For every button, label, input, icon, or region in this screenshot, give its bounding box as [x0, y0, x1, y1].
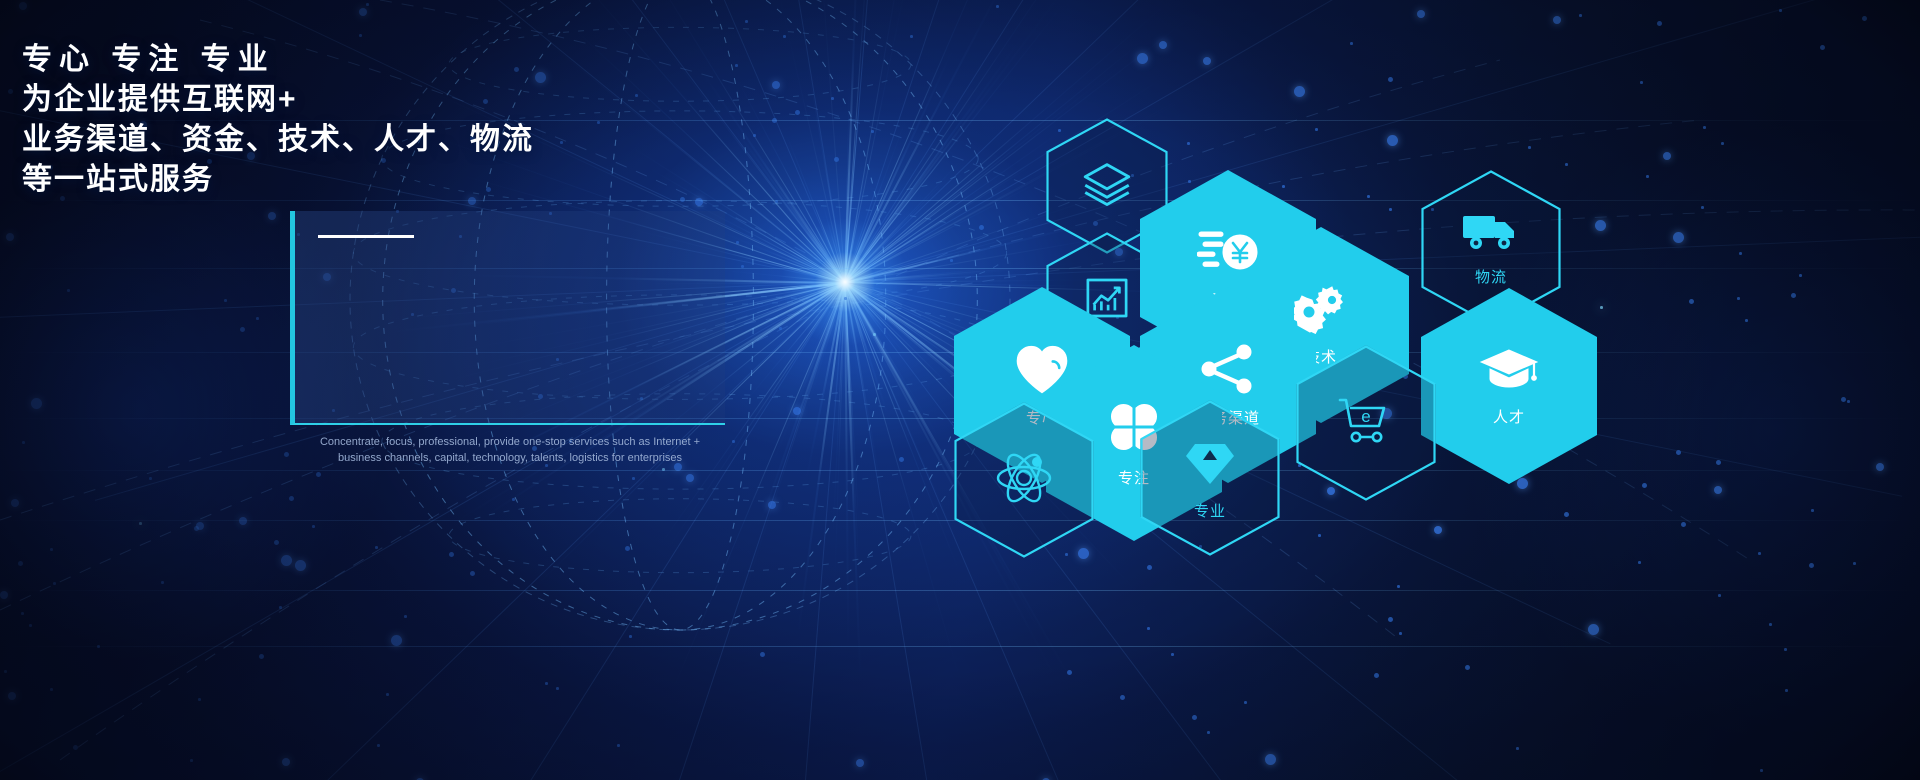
particle-dot — [4, 670, 7, 673]
particle-dot — [844, 297, 847, 300]
particle-dot — [1784, 648, 1787, 651]
particle-dot — [0, 591, 8, 599]
particle-dot — [1714, 486, 1722, 494]
diamond-icon — [1183, 436, 1237, 493]
atom-icon — [993, 449, 1055, 512]
particle-dot — [1147, 565, 1152, 570]
particle-dot — [1595, 220, 1606, 231]
banner-stage: 专心 专注 专业为企业提供互联网+业务渠道、资金、技术、人才、物流等一站式服务 … — [0, 0, 1920, 780]
hexagon-body: 人才 — [1421, 288, 1597, 484]
particle-dot — [783, 35, 786, 38]
particle-dot — [73, 745, 78, 750]
particle-dot — [1642, 483, 1647, 488]
particle-dot — [1876, 463, 1884, 471]
particle-dot — [239, 517, 247, 525]
particle-dot — [632, 477, 635, 480]
particle-dot — [831, 97, 834, 100]
particle-dot — [19, 2, 27, 10]
particle-dot — [316, 472, 321, 477]
particle-dot — [1791, 293, 1796, 298]
particle-dot — [1758, 552, 1761, 555]
hexagon-ecart[interactable]: e — [1296, 345, 1436, 501]
particle-dot — [1811, 509, 1814, 512]
particle-dot — [871, 130, 874, 133]
scan-line — [0, 590, 1920, 591]
particle-dot — [1676, 450, 1681, 455]
particle-dot — [556, 687, 559, 690]
scan-line — [0, 268, 1920, 269]
particle-dot — [194, 526, 199, 531]
particle-dot — [795, 110, 800, 115]
particle-dot — [1638, 561, 1641, 564]
particle-dot — [1703, 126, 1706, 129]
particle-dot — [1465, 665, 1470, 670]
particle-dot — [1137, 53, 1148, 64]
particle-dot — [161, 581, 164, 584]
particle-dot — [1553, 16, 1561, 24]
particle-dot — [1769, 623, 1772, 626]
particle-dot — [625, 546, 630, 551]
particle-dot — [1739, 252, 1742, 255]
particle-dot — [1388, 77, 1393, 82]
particle-dot — [899, 457, 904, 462]
particle-dot — [1564, 512, 1569, 517]
particle-dot — [1318, 534, 1321, 537]
particle-dot — [1760, 769, 1763, 772]
hexagon-body: 专业 — [1140, 400, 1280, 556]
particle-dot — [139, 522, 142, 525]
particle-dot — [359, 34, 362, 37]
particle-dot — [617, 744, 620, 747]
particle-dot — [512, 498, 515, 501]
particle-dot — [256, 317, 259, 320]
particle-dot — [662, 468, 665, 471]
particle-dot — [1399, 632, 1402, 635]
hexagon-rencai[interactable]: 人才 — [1421, 288, 1597, 484]
particle-dot — [1203, 57, 1211, 65]
particle-dot — [8, 692, 16, 700]
particle-dot — [282, 758, 290, 766]
particle-dot — [979, 225, 984, 230]
particle-dot — [279, 606, 282, 609]
particle-dot — [1315, 128, 1318, 131]
particle-dot — [1120, 695, 1125, 700]
headline-line-2: 为企业提供互联网+ — [22, 80, 782, 120]
svg-text:e: e — [1361, 407, 1370, 426]
hexagon-label: 专业 — [1194, 500, 1226, 521]
particle-dot — [1516, 747, 1519, 750]
particle-dot — [768, 501, 776, 509]
scan-line — [0, 646, 1920, 647]
particle-dot — [1192, 715, 1197, 720]
particle-dot — [259, 654, 264, 659]
particle-dot — [29, 624, 32, 627]
particle-dot — [1646, 175, 1649, 178]
particle-dot — [856, 759, 864, 767]
particle-dot — [1067, 670, 1072, 675]
particle-dot — [834, 157, 839, 162]
hexagon-label: 物流 — [1475, 266, 1507, 287]
headline-rule — [318, 235, 414, 238]
particle-dot — [686, 474, 694, 482]
hexagon-atom[interactable] — [954, 402, 1094, 558]
particle-dot — [1417, 10, 1425, 18]
particle-dot — [1600, 306, 1603, 309]
particle-dot — [1389, 208, 1392, 211]
particle-dot — [289, 496, 294, 501]
particle-dot — [1820, 45, 1825, 50]
particle-dot — [1388, 617, 1393, 622]
particle-dot — [1387, 135, 1398, 146]
particle-dot — [404, 615, 407, 618]
particle-dot — [196, 522, 204, 530]
particle-dot — [1841, 397, 1846, 402]
particle-dot — [1579, 14, 1582, 17]
particle-dot — [31, 398, 42, 409]
hexagon-label: 人才 — [1493, 406, 1525, 427]
particle-dot — [359, 8, 367, 16]
particle-dot — [449, 552, 454, 557]
particle-dot — [745, 20, 748, 23]
particle-dot — [1350, 42, 1353, 45]
particle-dot — [6, 233, 14, 241]
particle-dot — [741, 265, 744, 268]
hexagon-body: e — [1296, 345, 1436, 501]
particle-dot — [1640, 81, 1643, 84]
graduation-cap-icon — [1479, 346, 1539, 399]
particle-dot — [97, 645, 100, 648]
particle-dot — [736, 241, 739, 244]
particle-dot — [950, 259, 953, 262]
hexagon-body — [954, 402, 1094, 558]
particle-dot — [1663, 152, 1671, 160]
particle-dot — [240, 327, 245, 332]
particle-dot — [779, 327, 782, 330]
particle-dot — [775, 200, 778, 203]
particle-dot — [386, 693, 389, 696]
particle-dot — [8, 89, 13, 94]
particle-dot — [377, 744, 380, 747]
particle-dot — [1565, 163, 1568, 166]
particle-dot — [1147, 627, 1150, 630]
particle-dot — [149, 477, 152, 480]
particle-dot — [1716, 460, 1721, 465]
particle-dot — [1701, 206, 1704, 209]
particle-dot — [1721, 142, 1724, 145]
headline-line-1: 专心 专注 专业 — [22, 40, 782, 80]
page-title: 专心 专注 专业为企业提供互联网+业务渠道、资金、技术、人才、物流等一站式服务 — [22, 40, 782, 200]
particle-dot — [190, 759, 193, 762]
particle-dot — [1847, 400, 1850, 403]
particle-dot — [793, 407, 801, 415]
truck-icon — [1461, 210, 1521, 259]
particle-dot — [1207, 731, 1210, 734]
particle-dot — [1673, 232, 1684, 243]
particle-dot — [1244, 701, 1247, 704]
particle-dot — [281, 555, 292, 566]
particle-dot — [1779, 9, 1782, 12]
particle-dot — [1187, 142, 1190, 145]
particle-dot — [274, 540, 279, 545]
particle-dot — [22, 441, 25, 444]
particle-dot — [1718, 594, 1721, 597]
particle-dot — [470, 571, 475, 576]
particle-dot — [1171, 653, 1174, 656]
particle-dot — [1294, 86, 1305, 97]
particle-dot — [1367, 195, 1370, 198]
particle-dot — [1745, 319, 1748, 322]
particle-dot — [50, 548, 53, 551]
subtitle-text: Concentrate, focus, professional, provid… — [300, 434, 720, 466]
particle-dot — [295, 560, 306, 571]
particle-dot — [1397, 585, 1400, 588]
particle-dot — [21, 612, 24, 615]
particle-dot — [1689, 299, 1694, 304]
particle-dot — [284, 452, 289, 457]
particle-dot — [11, 499, 19, 507]
particle-dot — [1159, 41, 1167, 49]
particle-dot — [50, 688, 53, 691]
particle-dot — [1785, 689, 1788, 692]
hexagon-zhuanye[interactable]: 专业 — [1140, 400, 1280, 556]
particle-dot — [1681, 522, 1686, 527]
e-cart-icon: e — [1337, 395, 1395, 452]
headline-panel — [290, 211, 725, 425]
particle-dot — [1657, 21, 1662, 26]
headline-line-4: 等一站式服务 — [22, 160, 782, 200]
particle-dot — [53, 582, 56, 585]
particle-dot — [1853, 562, 1856, 565]
particle-dot — [391, 635, 402, 646]
particle-dot — [1374, 673, 1379, 678]
particle-dot — [1528, 146, 1531, 149]
headline-line-3: 业务渠道、资金、技术、人才、物流 — [22, 120, 782, 160]
particle-dot — [873, 333, 876, 336]
particle-dot — [375, 546, 378, 549]
particle-dot — [629, 635, 632, 638]
particle-dot — [1799, 274, 1802, 277]
particle-dot — [732, 440, 735, 443]
particle-dot — [1809, 563, 1814, 568]
particle-dot — [910, 35, 913, 38]
particle-dot — [366, 3, 369, 6]
particle-dot — [1862, 16, 1867, 21]
particle-dot — [1434, 526, 1442, 534]
particle-dot — [268, 212, 276, 220]
particle-dot — [1265, 754, 1276, 765]
particle-dot — [224, 299, 227, 302]
particle-dot — [760, 652, 765, 657]
particle-dot — [545, 682, 548, 685]
particle-dot — [1737, 297, 1740, 300]
particle-dot — [996, 5, 999, 8]
particle-dot — [198, 698, 201, 701]
particle-dot — [67, 289, 70, 292]
particle-dot — [18, 561, 23, 566]
scan-line — [0, 200, 1920, 201]
layers-icon — [1078, 155, 1136, 218]
particle-dot — [312, 525, 315, 528]
particle-dot — [1588, 624, 1599, 635]
